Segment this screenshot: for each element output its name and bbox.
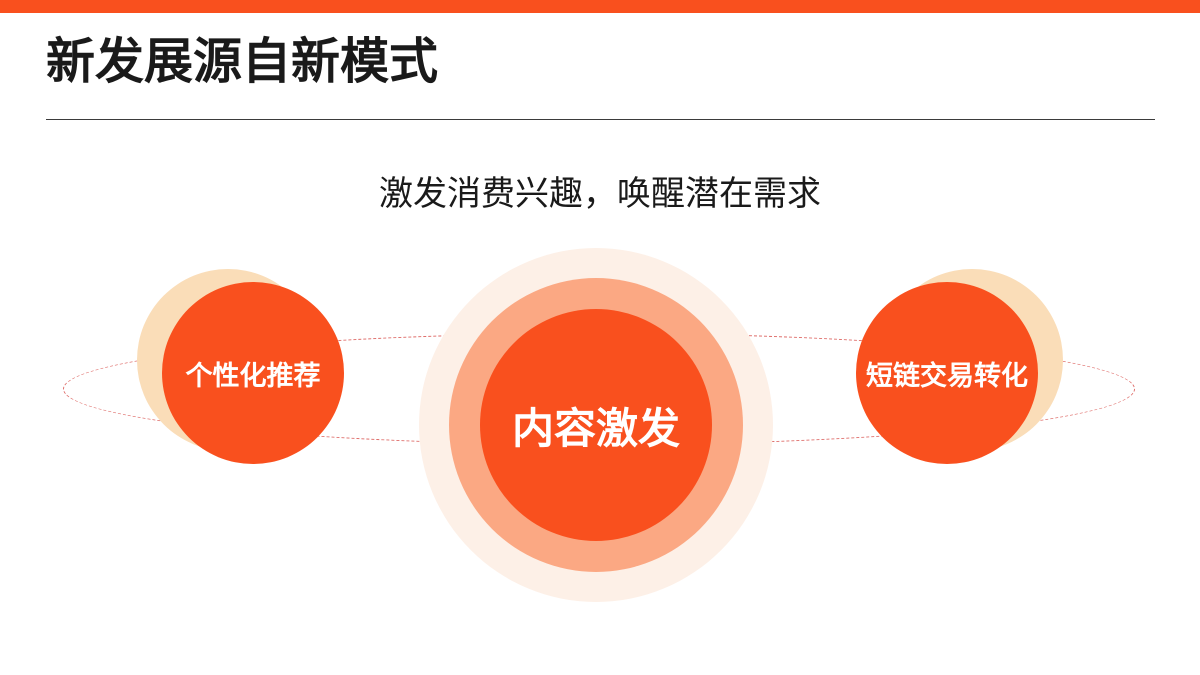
top-accent-bar <box>0 0 1200 13</box>
node-right-circle[interactable]: 短链交易转化 <box>856 282 1038 464</box>
node-left-circle[interactable]: 个性化推荐 <box>162 282 344 464</box>
node-left-label: 个性化推荐 <box>186 354 321 393</box>
node-center-circle[interactable]: 内容激发 <box>480 309 712 541</box>
slide-canvas: 新发展源自新模式 激发消费兴趣，唤醒潜在需求 个性化推荐 短链交易转化 内容激发 <box>0 0 1200 675</box>
slide-subtitle: 激发消费兴趣，唤醒潜在需求 <box>0 173 1200 215</box>
title-divider <box>46 119 1155 120</box>
node-right-label: 短链交易转化 <box>866 354 1028 393</box>
page-title: 新发展源自新模式 <box>46 31 746 93</box>
node-center-label: 内容激发 <box>512 395 680 456</box>
